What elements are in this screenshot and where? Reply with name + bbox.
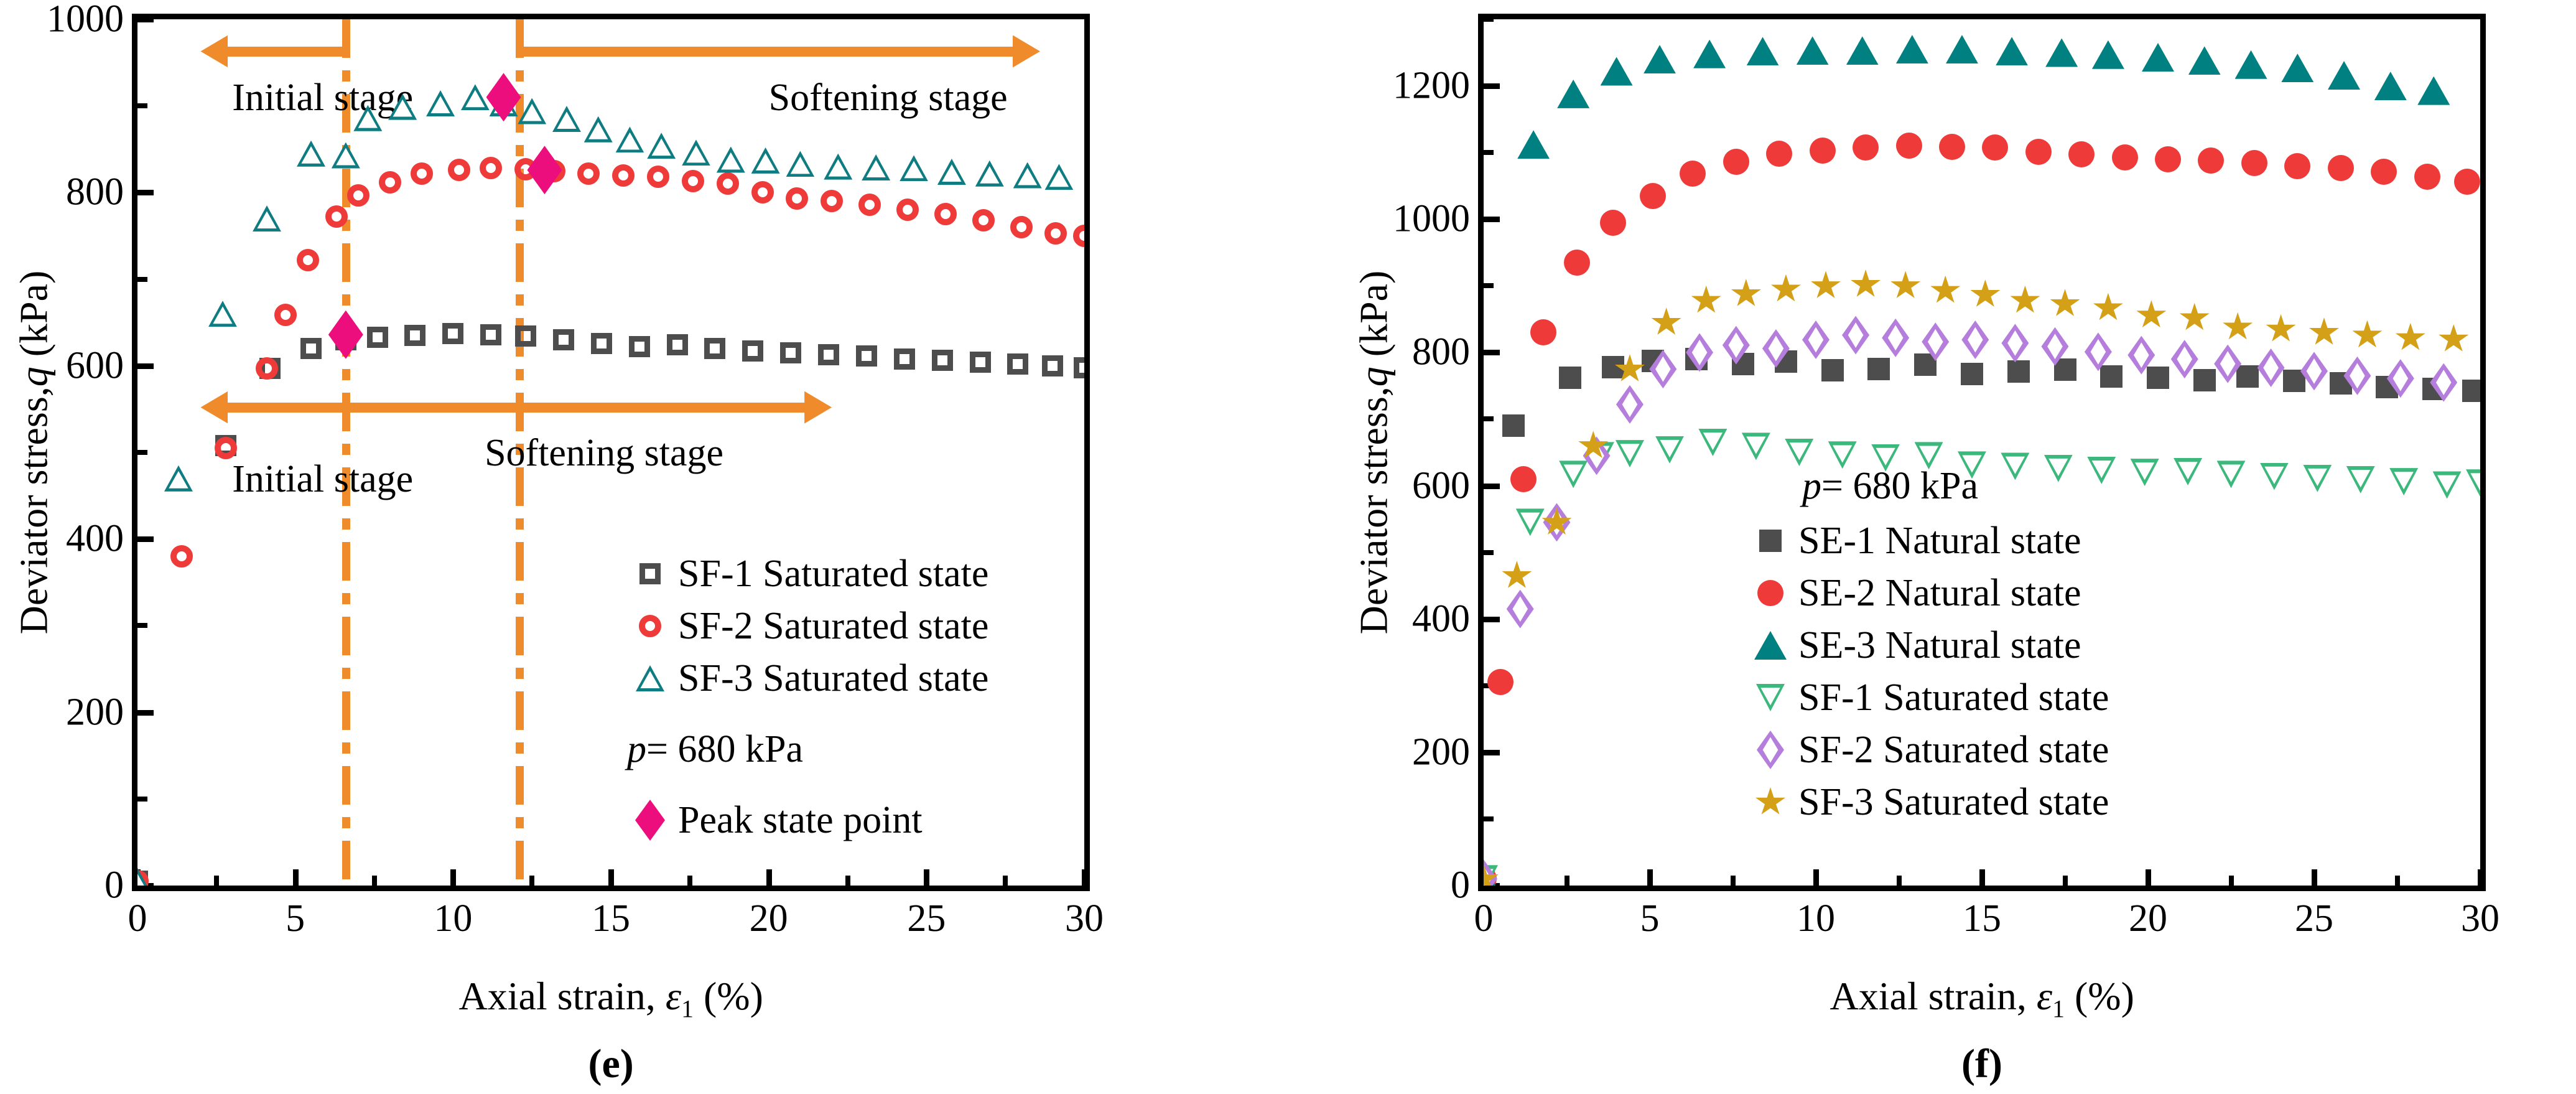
legend-item-sf2-f[interactable]: SF-2 Saturated state	[1742, 724, 2109, 776]
data-point	[170, 545, 193, 568]
data-point	[1010, 216, 1033, 238]
data-point	[2454, 169, 2480, 195]
data-point	[2430, 363, 2457, 402]
data-point	[937, 159, 966, 185]
x-tick-major	[608, 869, 614, 886]
x-tick-minor	[529, 876, 534, 886]
data-point	[704, 338, 725, 359]
data-point	[1616, 385, 1644, 424]
data-point	[1766, 141, 1792, 167]
data-point	[2257, 348, 2285, 387]
panel-f: 020040060080010001200051015202530 Deviat…	[1288, 0, 2576, 1094]
data-point	[1810, 138, 1836, 164]
top-initial-stage-arrow-bar	[224, 47, 345, 57]
x-tick-minor	[214, 876, 219, 886]
data-point	[347, 184, 370, 207]
data-point	[2142, 43, 2174, 72]
legend-item-sf3-f[interactable]: SF-3 Saturated state	[1742, 776, 2109, 828]
data-point	[1939, 134, 1965, 160]
data-point	[647, 133, 676, 159]
data-point	[2371, 159, 2397, 185]
data-point	[1640, 183, 1666, 209]
data-point	[1044, 164, 1073, 190]
data-point	[1044, 222, 1067, 245]
top-softening-stage-arrow-head	[1013, 35, 1040, 68]
data-point	[2266, 314, 2297, 344]
data-point	[1655, 436, 1684, 464]
data-point	[426, 90, 455, 116]
data-point	[411, 162, 433, 185]
data-point	[584, 116, 613, 143]
y-tick-minor	[1484, 150, 1494, 155]
panel-e: Initial stageSoftening stageInitial stag…	[0, 0, 1288, 1094]
legend-label-sf2-f: SF-2 Saturated state	[1798, 731, 2109, 769]
legend-label-sf3-e: SF-3 Saturated state	[678, 659, 988, 698]
legend-item-sf1-e[interactable]: SF-1 Saturated state	[622, 548, 988, 600]
legend-label-peak-e: Peak state point	[678, 801, 923, 839]
data-point	[2303, 465, 2332, 492]
x-tick-major	[2312, 869, 2317, 886]
data-point	[1810, 271, 1841, 301]
data-point	[553, 329, 574, 350]
y-tick-label: 600	[1412, 464, 1484, 508]
data-point	[1507, 590, 1534, 629]
legend-label-se3-f: SE-3 Natural state	[1798, 626, 2081, 665]
triangle-filled-teal-icon	[1742, 619, 1798, 671]
y-tick-minor	[137, 277, 147, 282]
legend-label-sf2-e: SF-2 Saturated state	[678, 607, 988, 645]
legend-item-se1-f[interactable]: SE-1 Natural state	[1742, 515, 2109, 567]
data-point	[2009, 286, 2040, 316]
data-point	[274, 304, 297, 326]
y-tick-label: 400	[66, 517, 137, 561]
pressure-note-f: p = 680 kPa	[1742, 457, 2109, 515]
data-point	[1922, 322, 1949, 361]
data-point	[2092, 40, 2124, 69]
y-tick-label: 1000	[47, 0, 137, 42]
star-gold-icon	[1742, 776, 1798, 828]
data-point	[1564, 250, 1590, 276]
data-point	[1651, 307, 1682, 337]
data-point	[2136, 300, 2167, 330]
data-point	[1501, 561, 1532, 591]
x-tick-minor	[1897, 876, 1902, 886]
data-point	[332, 143, 360, 169]
data-point	[1007, 353, 1028, 375]
x-tick-major	[450, 869, 456, 886]
bottom-initial-stage-arrow-head	[200, 391, 228, 424]
data-point	[325, 205, 348, 228]
data-point	[527, 146, 562, 194]
data-point	[2433, 471, 2462, 498]
data-point	[1882, 319, 1909, 357]
data-point	[1074, 357, 1084, 378]
y-tick-minor	[1484, 283, 1494, 288]
data-point	[1731, 279, 1762, 309]
data-point	[2085, 332, 2112, 371]
y-tick-minor	[1484, 416, 1494, 421]
x-tick-minor	[687, 876, 692, 886]
data-point	[577, 162, 600, 185]
x-tick-minor	[1565, 876, 1569, 886]
data-point	[2351, 320, 2383, 350]
data-point	[615, 126, 644, 152]
data-point	[2281, 54, 2313, 82]
diamond-filled-pink-icon	[622, 794, 678, 846]
y-tick-minor	[1484, 550, 1494, 555]
y-tick-major	[137, 363, 154, 369]
data-point	[1680, 161, 1706, 187]
data-point	[480, 324, 501, 345]
data-point	[379, 171, 401, 194]
x-tick-minor	[2395, 876, 2400, 886]
legend-item-peak-e[interactable]: Peak state point	[622, 794, 988, 846]
data-point	[1693, 40, 1726, 68]
data-point	[717, 172, 739, 195]
data-point	[2235, 50, 2267, 79]
data-point	[2068, 141, 2095, 167]
y-tick-major	[1484, 350, 1500, 355]
y-tick-minor	[1484, 19, 1494, 22]
y-axis-title-text-e: Deviator stress,q (kPa)	[11, 271, 55, 635]
data-point	[2112, 144, 2138, 171]
data-point	[751, 147, 780, 174]
top-initial-stage-arrow-head	[200, 35, 228, 68]
data-point	[786, 187, 808, 210]
data-point	[682, 170, 704, 192]
data-point	[2041, 327, 2068, 366]
data-point	[2417, 77, 2450, 105]
data-point	[629, 336, 650, 357]
data-point	[2188, 46, 2221, 75]
data-point	[300, 338, 322, 359]
data-point	[1723, 326, 1750, 365]
data-point	[1013, 162, 1042, 189]
y-tick-major	[1484, 617, 1500, 622]
softening-stage-label-top: Softening stage	[769, 76, 1008, 120]
y-tick-major	[137, 536, 154, 542]
data-point	[824, 154, 852, 180]
data-point	[2438, 324, 2469, 354]
x-tick-label: 15	[592, 886, 630, 941]
top-softening-stage-arrow-bar	[519, 47, 1016, 57]
y-tick-minor	[137, 450, 147, 455]
data-point	[297, 141, 325, 167]
data-point	[2300, 352, 2328, 390]
data-point	[1821, 359, 1844, 381]
data-point	[2050, 289, 2081, 319]
y-tick-label: 400	[1412, 597, 1484, 641]
x-tick-label: 30	[2461, 886, 2499, 941]
data-point	[1930, 276, 1961, 306]
data-point	[612, 164, 635, 187]
data-point	[742, 340, 763, 362]
legend-label-sf1-f: SF-1 Saturated state	[1798, 678, 2109, 717]
circle-open-red-icon	[622, 600, 678, 652]
x-tick-label: 25	[907, 886, 946, 941]
data-point	[786, 151, 814, 177]
legend-label-sf3-f: SF-3 Saturated state	[1798, 783, 2109, 821]
data-point	[972, 209, 995, 231]
data-point	[2155, 146, 2181, 172]
data-point	[2131, 459, 2159, 486]
data-point	[2217, 461, 2246, 488]
data-point	[682, 139, 710, 166]
data-point	[896, 199, 919, 221]
data-point	[2284, 153, 2310, 179]
data-point	[1961, 363, 1983, 385]
x-tick-label: 0	[1474, 886, 1494, 941]
data-point	[1969, 279, 2001, 309]
data-point	[137, 868, 152, 886]
y-tick-label: 600	[66, 344, 137, 388]
data-point	[2179, 303, 2210, 333]
data-point	[1802, 320, 1830, 359]
panel-tag-f: (f)	[1961, 1040, 2002, 1088]
data-point	[1762, 329, 1790, 368]
data-point	[1698, 429, 1727, 456]
data-point	[253, 205, 281, 231]
x-tick-label: 20	[2129, 886, 2167, 941]
data-point	[2343, 357, 2371, 395]
data-point	[2093, 293, 2124, 323]
data-point	[2414, 164, 2440, 190]
data-point	[388, 94, 417, 120]
data-point	[2198, 147, 2224, 174]
x-tick-minor	[1731, 876, 1736, 886]
data-point	[353, 105, 382, 131]
y-tick-label: 800	[66, 171, 137, 215]
data-point	[1961, 320, 1989, 359]
data-point	[515, 325, 536, 347]
legend-item-sf1-f[interactable]: SF-1 Saturated state	[1742, 671, 2109, 724]
bottom-softening-stage-arrow-head	[804, 391, 832, 424]
data-point	[900, 155, 928, 181]
legend-f: p = 680 kPa SE-1 Natural state SE-2 Natu…	[1742, 457, 2109, 828]
down-triangle-open-green-icon	[1742, 671, 1798, 724]
x-tick-minor	[2229, 876, 2234, 886]
data-point	[518, 98, 546, 124]
data-point	[894, 348, 915, 370]
data-point	[367, 327, 388, 348]
data-point	[591, 333, 612, 354]
data-point	[215, 437, 237, 459]
data-point	[1742, 432, 1770, 460]
data-point	[2127, 336, 2155, 375]
legend-item-sf3-e[interactable]: SF-3 Saturated state	[622, 652, 988, 704]
data-point	[1850, 269, 1881, 299]
data-point	[1723, 149, 1749, 175]
data-point	[856, 345, 877, 367]
x-tick-label: 10	[1797, 886, 1835, 941]
data-point	[208, 301, 237, 327]
triangle-open-teal-icon	[622, 652, 678, 704]
x-axis-title-f: Axial strain, ε1 (%)	[1830, 973, 2134, 1024]
x-tick-major	[924, 869, 929, 886]
pressure-note-text-f: = 680 kPa	[1821, 464, 1978, 508]
y-tick-major	[1484, 484, 1500, 489]
data-point	[1616, 440, 1644, 467]
data-point	[2328, 155, 2354, 181]
data-point	[442, 323, 463, 344]
data-point	[858, 194, 881, 216]
data-point	[297, 249, 319, 271]
data-point	[751, 181, 774, 203]
data-point	[2387, 359, 2414, 398]
data-point	[480, 157, 502, 179]
y-tick-major	[137, 19, 154, 22]
data-point	[1867, 358, 1890, 380]
x-tick-major	[1647, 869, 1653, 886]
data-point	[1073, 225, 1084, 247]
data-point	[1896, 35, 1928, 63]
data-point	[821, 190, 843, 212]
data-point	[2462, 380, 2480, 402]
data-point	[1516, 508, 1545, 536]
bottom-softening-stage-arrow-bar	[346, 403, 808, 413]
data-point	[461, 84, 490, 110]
legend-item-se3-f[interactable]: SE-3 Natural state	[1742, 619, 2109, 671]
data-point	[818, 344, 839, 365]
x-tick-minor	[2063, 876, 2068, 886]
legend-item-se2-f[interactable]: SE-2 Natural state	[1742, 567, 2109, 619]
figure-root: Initial stageSoftening stageInitial stag…	[0, 0, 2576, 1094]
data-point	[328, 311, 363, 359]
y-tick-minor	[137, 103, 147, 108]
panel-tag-e: (e)	[588, 1040, 634, 1088]
y-tick-label: 1200	[1393, 64, 1484, 108]
data-point	[2045, 39, 2078, 67]
softening-stage-label-bottom: Softening stage	[485, 431, 723, 475]
data-point	[2007, 360, 2030, 383]
x-tick-label: 15	[1963, 886, 2001, 941]
y-tick-major	[1484, 83, 1500, 89]
data-point	[862, 154, 890, 180]
data-point	[164, 465, 193, 492]
y-axis-title-f: Deviator stress,q (kPa)	[1351, 271, 1397, 635]
bottom-initial-stage-arrow-bar	[224, 403, 345, 413]
data-point	[2328, 61, 2360, 90]
circle-filled-red-icon	[1742, 567, 1798, 619]
data-point	[1559, 367, 1581, 389]
data-point	[1502, 414, 1525, 437]
legend-item-sf2-e[interactable]: SF-2 Saturated state	[622, 600, 988, 652]
y-tick-minor	[137, 623, 147, 628]
data-point	[1996, 37, 2028, 65]
x-tick-major	[2146, 869, 2151, 886]
data-point	[2466, 469, 2480, 497]
data-point	[1600, 210, 1626, 236]
data-point	[1896, 133, 1922, 159]
data-point	[1487, 669, 1514, 695]
x-tick-label: 0	[128, 886, 147, 941]
data-point	[1846, 36, 1879, 65]
data-point	[975, 161, 1004, 187]
data-point	[552, 106, 581, 132]
x-tick-major	[293, 869, 299, 886]
square-open-gray-icon	[622, 548, 678, 600]
data-point	[2214, 345, 2241, 383]
data-point	[1747, 37, 1779, 65]
y-tick-major	[1484, 217, 1500, 222]
data-point	[647, 166, 669, 188]
x-tick-label: 5	[1640, 886, 1660, 941]
data-point	[2001, 324, 2029, 362]
data-point	[2389, 468, 2418, 495]
data-point	[1530, 319, 1556, 345]
legend-label-se2-f: SE-2 Natural state	[1798, 574, 2081, 612]
data-point	[717, 147, 745, 173]
data-point	[2374, 72, 2407, 100]
data-point	[2171, 340, 2198, 378]
y-tick-major	[137, 710, 154, 716]
data-point	[1042, 355, 1063, 376]
data-point	[448, 159, 470, 181]
data-point	[2309, 317, 2340, 347]
data-point	[2395, 323, 2426, 353]
y-tick-major	[137, 190, 154, 195]
data-point	[2346, 466, 2375, 493]
data-point	[1842, 316, 1869, 355]
data-point	[1517, 130, 1550, 159]
y-tick-major	[1484, 750, 1500, 755]
data-point	[1510, 466, 1537, 492]
data-point	[1649, 350, 1676, 388]
x-tick-major	[1082, 869, 1084, 886]
data-point	[1770, 274, 1802, 304]
x-tick-label: 10	[434, 886, 472, 941]
data-point	[1890, 271, 1921, 301]
data-point	[667, 334, 688, 355]
x-tick-major	[1979, 869, 1985, 886]
data-point	[404, 325, 425, 346]
legend-e: SF-1 Saturated state SF-2 Saturated stat…	[622, 548, 988, 846]
x-tick-label: 30	[1065, 886, 1104, 941]
x-tick-major	[766, 869, 772, 886]
legend-label-se1-f: SE-1 Natural state	[1798, 521, 2081, 560]
data-point	[1853, 134, 1879, 161]
data-point	[2174, 458, 2202, 485]
data-point	[970, 352, 991, 373]
y-tick-label: 200	[66, 690, 137, 734]
data-point	[2260, 463, 2289, 490]
pressure-note-e: p = 680 kPa	[622, 721, 988, 778]
x-tick-major	[1813, 869, 1819, 886]
initial-stage-label-bottom: Initial stage	[232, 457, 413, 502]
data-point	[934, 203, 957, 225]
square-filled-gray-icon	[1742, 515, 1798, 567]
data-point	[1982, 134, 2008, 161]
x-tick-minor	[845, 876, 850, 886]
data-point	[780, 342, 801, 363]
data-point	[1601, 57, 1633, 86]
x-tick-minor	[372, 876, 377, 886]
data-point	[2222, 312, 2253, 342]
x-tick-label: 20	[750, 886, 788, 941]
data-point	[1644, 45, 1676, 73]
data-point	[2241, 150, 2267, 176]
data-point	[1797, 36, 1829, 65]
data-point	[1946, 35, 1978, 63]
x-tick-major	[2478, 869, 2480, 886]
data-point	[932, 350, 953, 371]
initial-stage-label-top: Initial stage	[232, 76, 413, 120]
y-tick-label: 200	[1412, 730, 1484, 774]
y-axis-title-e: Deviator stress,q (kPa)	[11, 271, 57, 635]
data-point	[256, 357, 278, 380]
x-tick-minor	[1003, 876, 1008, 886]
pressure-note-text-e: = 680 kPa	[646, 727, 803, 772]
